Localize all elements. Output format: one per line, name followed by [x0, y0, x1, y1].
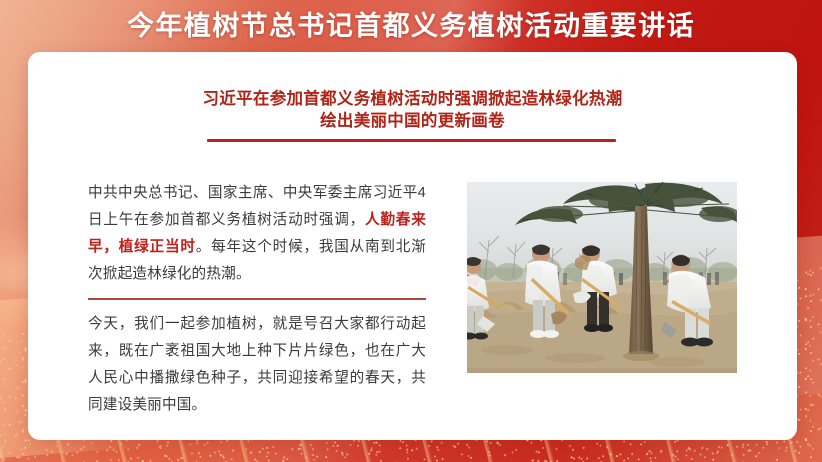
paragraph-1: 中共中央总书记、国家主席、中央军委主席习近平4日上午在参加首都义务植树活动时强调… — [88, 180, 426, 288]
subtitle-line-1: 习近平在参加首都义务植树活动时强调掀起造林绿化热潮 — [28, 88, 797, 110]
page-title: 今年植树节总书记首都义务植树活动重要讲话 — [0, 9, 822, 43]
tree-planting-photo — [467, 182, 737, 373]
subtitle-line-2: 绘出美丽中国的更新画卷 — [28, 110, 797, 132]
body-area: 中共中央总书记、国家主席、中央军委主席习近平4日上午在参加首都义务植树活动时强调… — [28, 180, 797, 430]
subtitle-underline-rule — [207, 139, 616, 142]
content-card: 习近平在参加首都义务植树活动时强调掀起造林绿化热潮 绘出美丽中国的更新画卷 中共… — [28, 52, 797, 440]
subtitle-block: 习近平在参加首都义务植树活动时强调掀起造林绿化热潮 绘出美丽中国的更新画卷 — [28, 88, 797, 132]
paragraph-divider — [88, 298, 426, 300]
paragraph-2: 今天，我们一起参加植树，就是号召大家都行动起来，既在广袤祖国大地上种下片片绿色，… — [88, 311, 426, 419]
photo-artwork — [467, 182, 737, 373]
slide-root: 今年植树节总书记首都义务植树活动重要讲话 习近平在参加首都义务植树活动时强调掀起… — [0, 0, 822, 462]
text-column: 中共中央总书记、国家主席、中央军委主席习近平4日上午在参加首都义务植树活动时强调… — [88, 180, 426, 419]
